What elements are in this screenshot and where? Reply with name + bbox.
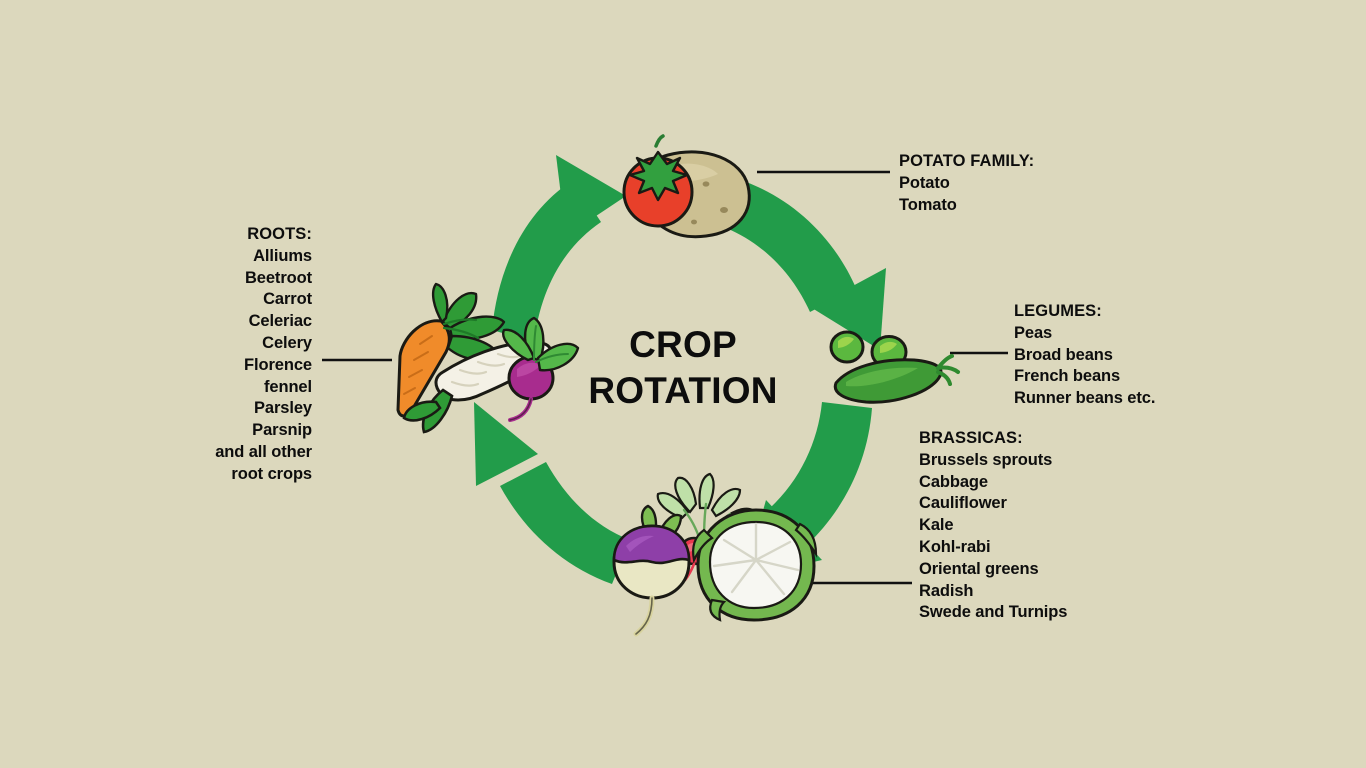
label-item: and all other — [170, 442, 312, 464]
label-item: Cabbage — [919, 472, 1067, 494]
pea-pod-illustration — [831, 332, 958, 402]
label-item: Oriental greens — [919, 559, 1067, 581]
label-legumes: LEGUMES: Peas Broad beans French beans R… — [1014, 301, 1155, 410]
label-item: Celeriac — [170, 311, 312, 333]
label-potato-family: POTATO FAMILY: Potato Tomato — [899, 151, 1034, 216]
label-heading-legumes: LEGUMES: — [1014, 301, 1155, 323]
tomato-potato-illustration — [624, 136, 749, 237]
arrow-roots-to-potato — [492, 155, 626, 342]
label-item: Broad beans — [1014, 345, 1155, 367]
crop-rotation-diagram: CROP ROTATION POTATO FAMILY: Potato Toma… — [0, 0, 1366, 768]
label-item: Beetroot — [170, 268, 312, 290]
tomato-calyx — [630, 152, 687, 200]
label-item: Runner beans etc. — [1014, 388, 1155, 410]
label-item: Cauliflower — [919, 493, 1067, 515]
arrow-brassicas-to-roots — [474, 402, 630, 584]
label-item: Swede and Turnips — [919, 602, 1067, 624]
label-item: root crops — [170, 464, 312, 486]
label-item: Potato — [899, 173, 1034, 195]
label-item: Parsnip — [170, 420, 312, 442]
label-heading-brassicas: BRASSICAS: — [919, 428, 1067, 450]
label-heading-roots: ROOTS: — [170, 224, 312, 246]
label-item: Radish — [919, 581, 1067, 603]
label-brassicas: BRASSICAS: Brussels sprouts Cabbage Caul… — [919, 428, 1067, 624]
title-line-1: CROP — [523, 322, 843, 368]
label-heading-potato: POTATO FAMILY: — [899, 151, 1034, 173]
label-item: Carrot — [170, 289, 312, 311]
label-item: French beans — [1014, 366, 1155, 388]
label-item: Peas — [1014, 323, 1155, 345]
label-item: Florence — [170, 355, 312, 377]
title-line-2: ROTATION — [523, 368, 843, 414]
label-item: Brussels sprouts — [919, 450, 1067, 472]
label-item: Kohl-rabi — [919, 537, 1067, 559]
label-item: Kale — [919, 515, 1067, 537]
label-item: Celery — [170, 333, 312, 355]
label-item: Parsley — [170, 398, 312, 420]
page-title: CROP ROTATION — [523, 322, 843, 414]
label-item: Alliums — [170, 246, 312, 268]
label-item: Tomato — [899, 195, 1034, 217]
label-roots: ROOTS: Alliums Beetroot Carrot Celeriac … — [170, 224, 312, 486]
label-item: fennel — [170, 377, 312, 399]
